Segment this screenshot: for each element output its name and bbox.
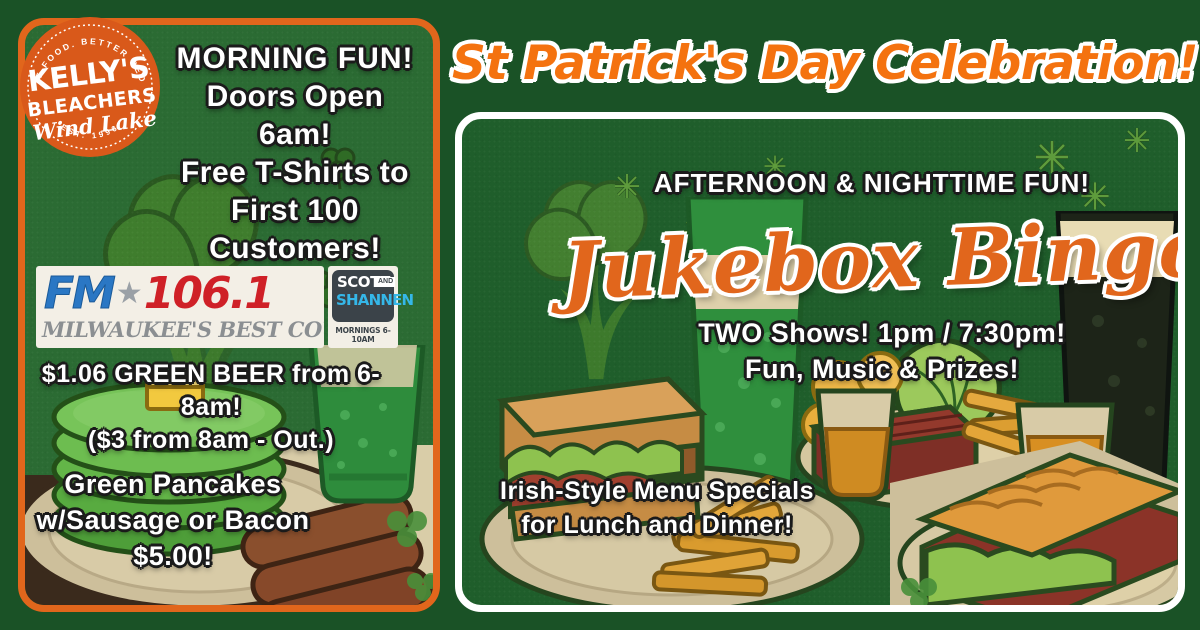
scott-and-shannen-badge: SCOTT AND SHANNEN MORNINGS 6-10AM bbox=[328, 266, 398, 348]
radio-fm-label: FM bbox=[44, 272, 114, 316]
heading-line-2: Doors Open 6am! bbox=[170, 78, 420, 154]
radio-frequency: 106.1 bbox=[144, 272, 273, 316]
radio-tagline: MILWAUKEE'S BEST COUNTRY bbox=[42, 318, 318, 342]
right-panel: AFTERNOON & NIGHTTIME FUN! Jukebox Bingo… bbox=[455, 112, 1185, 612]
star-icon: ★ bbox=[116, 279, 143, 309]
food-special-line-1: Green Pancakes bbox=[8, 466, 338, 502]
heading-line-1: MORNING FUN! bbox=[170, 40, 420, 78]
food-special-line-3: $5.00! bbox=[8, 538, 338, 574]
host-and-label: AND bbox=[376, 277, 395, 287]
radio-frequency-row: FM ★ 106.1 bbox=[44, 270, 273, 318]
radio-logo-main: FM ★ 106.1 MILWAUKEE'S BEST COUNTRY bbox=[36, 266, 324, 348]
heading-line-3: Free T-Shirts to bbox=[170, 154, 420, 192]
host-name-2: SHANNEN bbox=[336, 293, 413, 308]
menu-info-text: Irish-Style Menu Specials for Lunch and … bbox=[492, 474, 822, 542]
beer-special-line-2: ($3 from 8am - Out.) bbox=[14, 424, 408, 457]
food-special-text: Green Pancakes w/Sausage or Bacon $5.00! bbox=[8, 466, 338, 574]
menu-info-line-2: for Lunch and Dinner! bbox=[492, 508, 822, 542]
sparkle-shamrock-icon bbox=[1122, 125, 1152, 155]
event-title: Jukebox Bingo bbox=[560, 196, 1185, 328]
right-panel-subheading: AFTERNOON & NIGHTTIME FUN! bbox=[642, 167, 1102, 199]
menu-info-line-1: Irish-Style Menu Specials bbox=[492, 474, 822, 508]
sparkle-shamrock-icon bbox=[612, 171, 642, 201]
show-info-line-2: Fun, Music & Prizes! bbox=[612, 351, 1152, 387]
beer-special-text: $1.06 GREEN BEER from 6-8am! ($3 from 8a… bbox=[14, 358, 408, 457]
left-panel-heading: MORNING FUN! Doors Open 6am! Free T-Shir… bbox=[170, 40, 420, 268]
badge-card: SCOTT AND SHANNEN bbox=[332, 270, 394, 322]
grilled-reuben-plate-illustration bbox=[880, 437, 1185, 612]
heading-line-4: First 100 Customers! bbox=[170, 192, 420, 268]
kellys-bleachers-logo: GREAT FOOD. BETTER PEOPLE. EST. 1996 KEL… bbox=[14, 12, 166, 162]
show-times: MORNINGS 6-10AM bbox=[328, 326, 398, 344]
food-special-line-2: w/Sausage or Bacon bbox=[8, 502, 338, 538]
page-title: St Patrick's Day Celebration! bbox=[452, 34, 1192, 96]
show-info-text: TWO Shows! 1pm / 7:30pm! Fun, Music & Pr… bbox=[612, 315, 1152, 387]
fm1061-radio-logo: FM ★ 106.1 MILWAUKEE'S BEST COUNTRY SCOT… bbox=[36, 266, 398, 348]
poster-canvas: St Patrick's Day Celebration! bbox=[0, 0, 1200, 630]
beer-special-line-1: $1.06 GREEN BEER from 6-8am! bbox=[14, 358, 408, 424]
